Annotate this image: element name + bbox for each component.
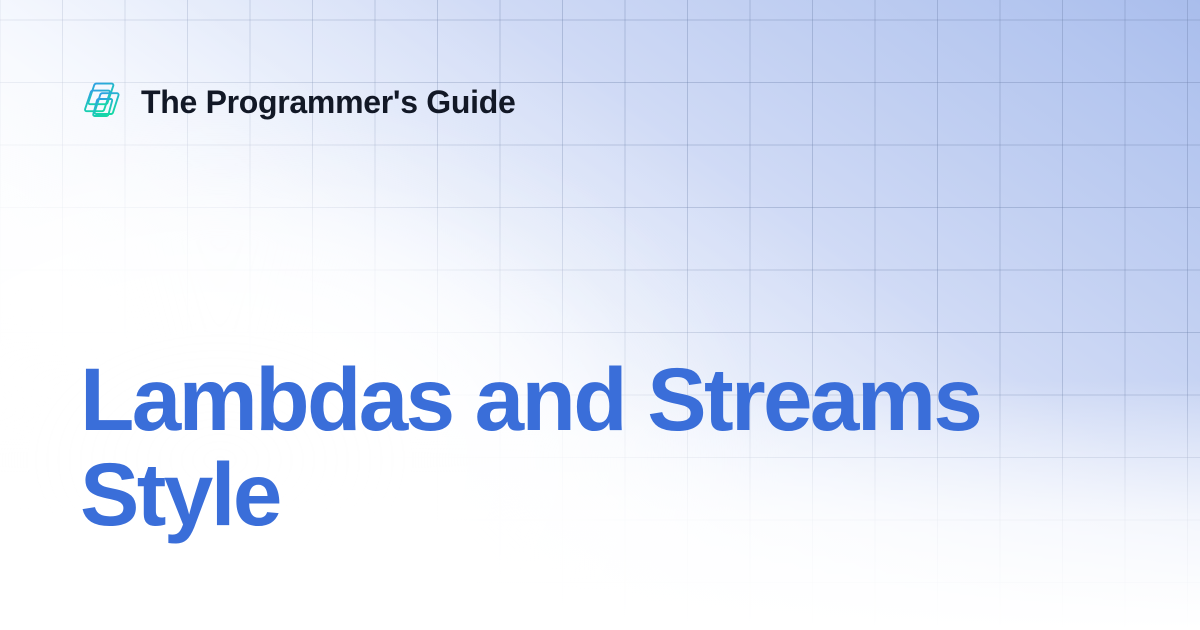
- stacked-parallelograms-logo-icon: [80, 80, 124, 124]
- card-content: The Programmer's Guide Lambdas and Strea…: [0, 0, 1200, 630]
- og-card: The Programmer's Guide Lambdas and Strea…: [0, 0, 1200, 630]
- brand-name: The Programmer's Guide: [141, 86, 515, 118]
- page-title: Lambdas and Streams Style: [80, 352, 1120, 542]
- brand-lockup: The Programmer's Guide: [80, 78, 515, 126]
